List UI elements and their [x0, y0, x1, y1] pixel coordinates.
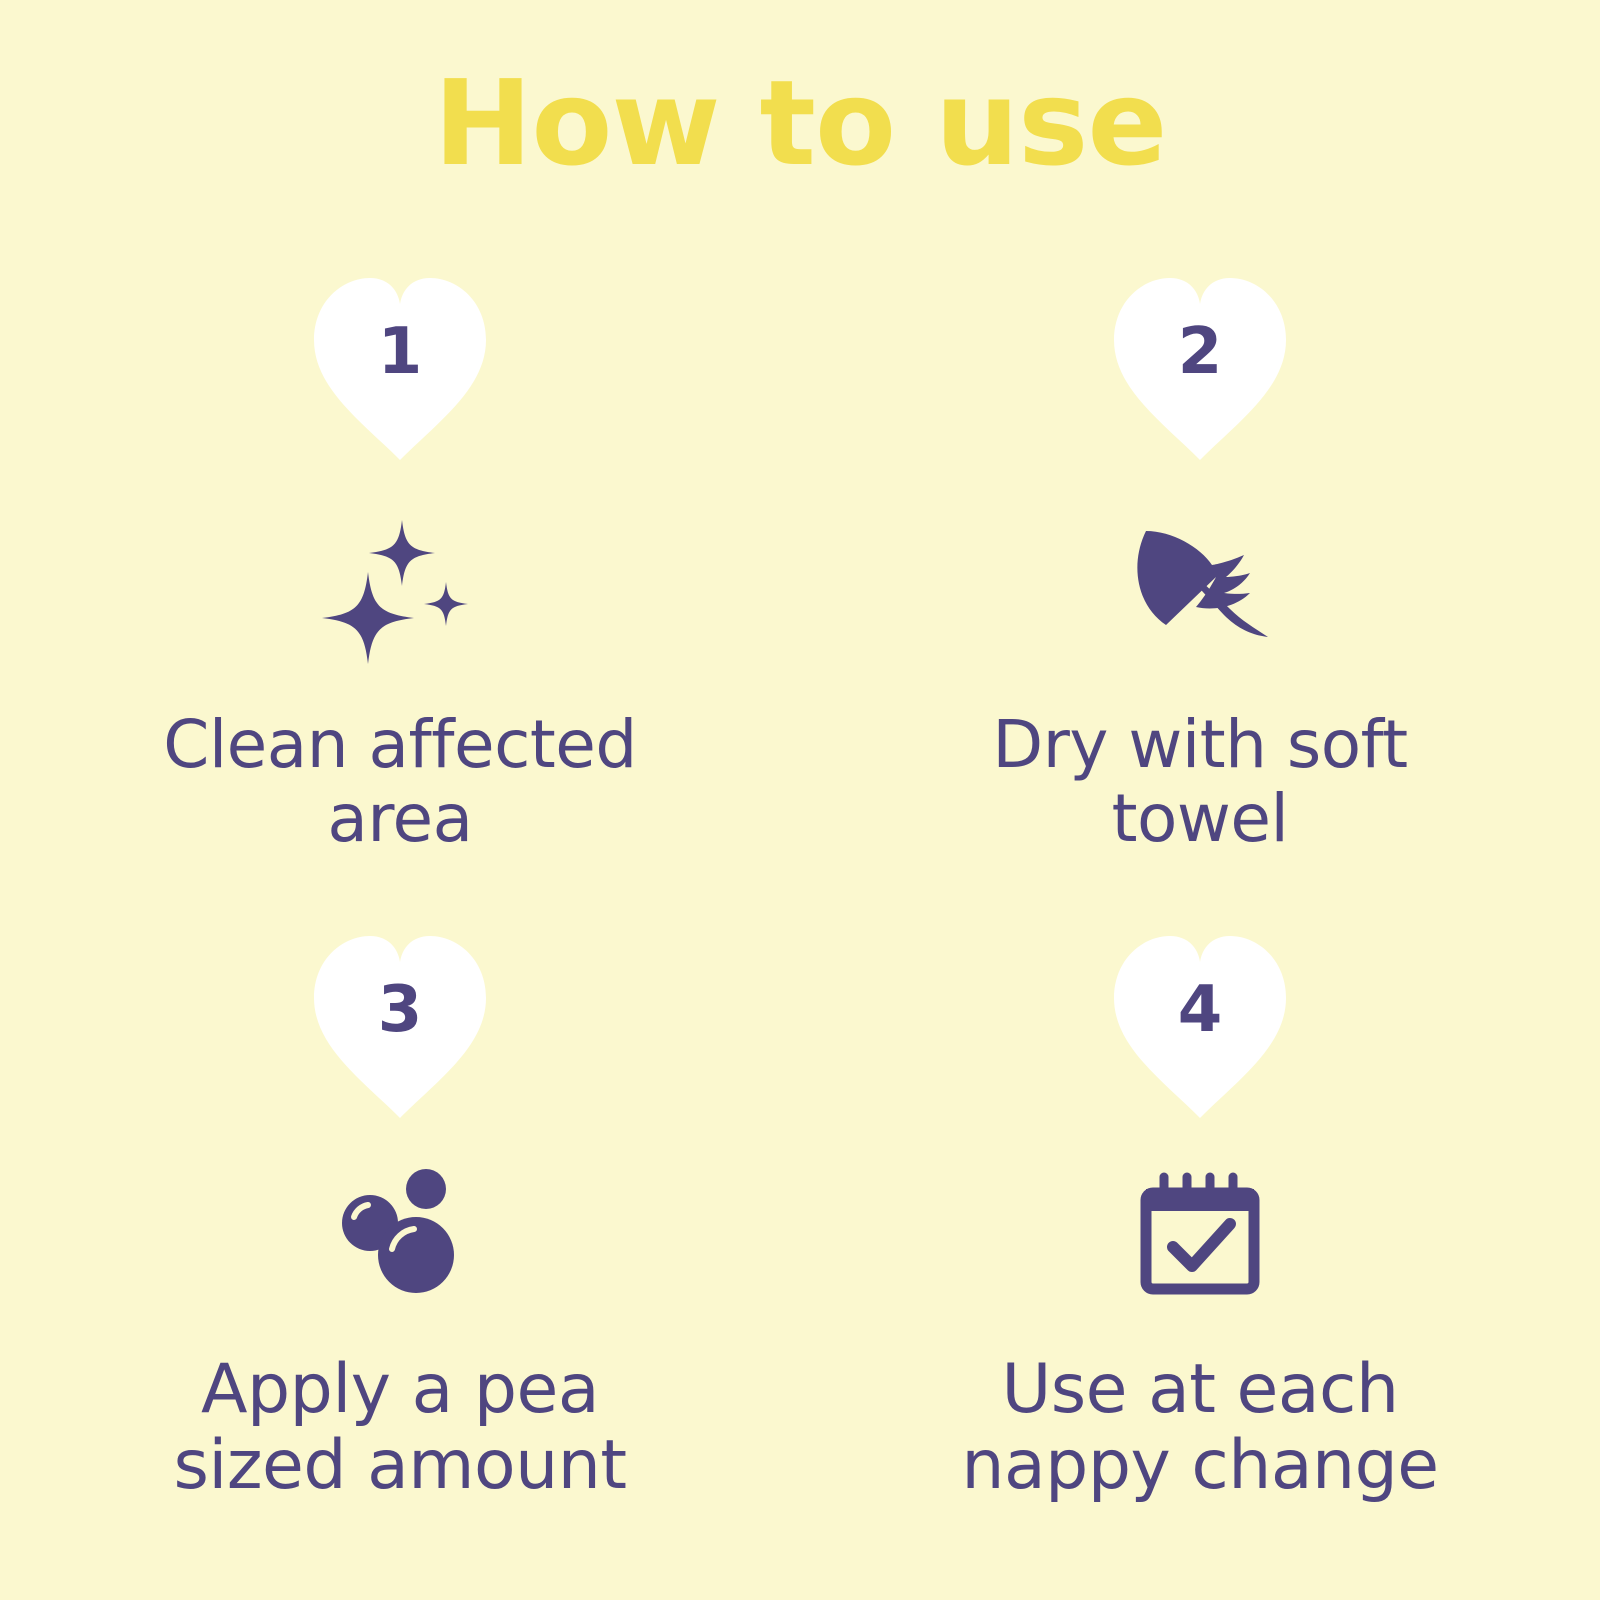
step-icon-slot-4	[1090, 1152, 1310, 1312]
step-caption-3-line1: Apply a pea	[201, 1350, 599, 1429]
bubbles-icon	[330, 1167, 470, 1297]
step-caption-4-line1: Use at each	[1001, 1350, 1398, 1429]
page-title: How to use	[0, 62, 1600, 186]
step-number-4: 4	[1100, 928, 1300, 1078]
calendar-check-icon	[1135, 1167, 1265, 1297]
step-number-badge-4: 4	[1100, 928, 1300, 1128]
step-caption-3-line2: sized amount	[120, 1428, 680, 1504]
step-number-badge-1: 1	[300, 270, 500, 470]
step-3: 3	[0, 928, 800, 1504]
step-icon-slot-3	[290, 1152, 510, 1312]
step-caption-3: Apply a pea sized amount	[120, 1352, 680, 1504]
steps-grid: 1 Clean affected area	[0, 270, 1600, 1504]
step-caption-4: Use at each nappy change	[920, 1352, 1480, 1504]
step-2: 2 Dry with soft towel	[800, 270, 1600, 856]
step-number-badge-2: 2	[1100, 270, 1300, 470]
step-icon-slot-1	[290, 504, 510, 674]
how-to-use-infographic: How to use 1 Clean	[0, 0, 1600, 1600]
step-caption-1-line1: Clean affected	[163, 706, 636, 783]
step-caption-2: Dry with soft towel	[920, 708, 1480, 856]
step-caption-2-line2: towel	[920, 782, 1480, 856]
step-caption-1: Clean affected area	[120, 708, 680, 856]
step-number-3: 3	[300, 928, 500, 1078]
step-number-2: 2	[1100, 270, 1300, 420]
step-caption-1-line2: area	[120, 782, 680, 856]
step-1: 1 Clean affected area	[0, 270, 800, 856]
step-caption-4-line2: nappy change	[920, 1428, 1480, 1504]
step-4: 4	[800, 928, 1600, 1504]
feather-icon	[1120, 519, 1280, 659]
sparkles-icon	[320, 514, 480, 664]
step-number-1: 1	[300, 270, 500, 420]
step-caption-2-line1: Dry with soft	[992, 706, 1407, 783]
step-number-badge-3: 3	[300, 928, 500, 1128]
step-icon-slot-2	[1090, 504, 1310, 674]
